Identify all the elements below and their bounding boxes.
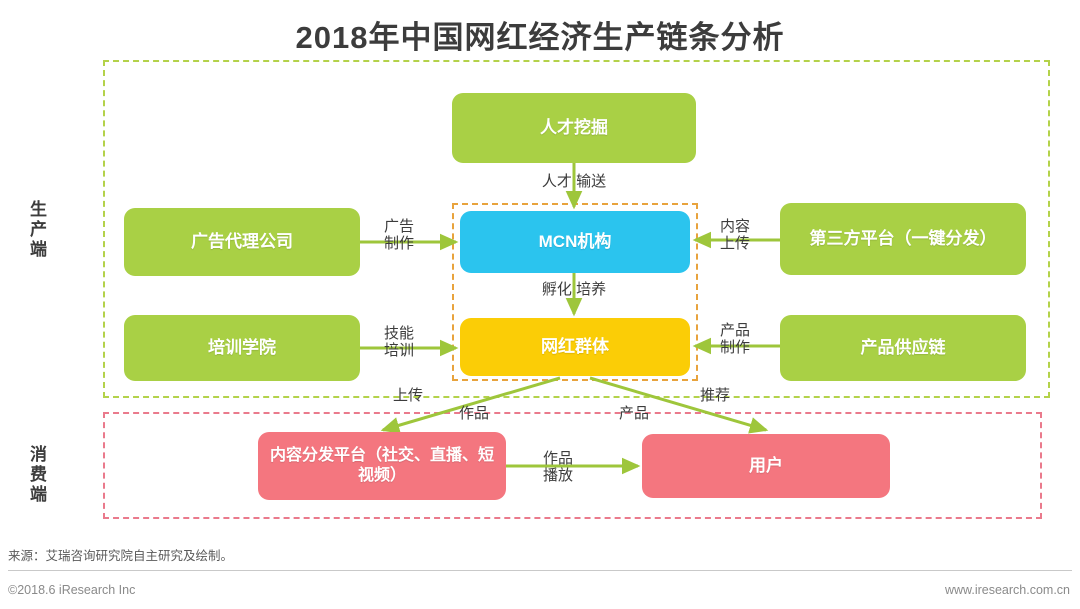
arrow-label-work-playback: 作品 播放 <box>528 450 588 485</box>
arrow-label-recommend: 推荐 <box>700 387 744 404</box>
box-content-distribution-platform[interactable]: 内容分发平台（社交、直播、短视频） <box>258 432 506 500</box>
arrow-label-incubate-cultivate: 孵化 培养 <box>512 281 636 298</box>
arrow-label-skill-training: 技能 培训 <box>372 325 426 360</box>
box-training-academy[interactable]: 培训学院 <box>124 315 360 381</box>
arrow-label-work: 作品 <box>452 405 496 422</box>
box-mcn[interactable]: MCN机构 <box>460 211 690 273</box>
side-label-consumption-end: 消费端 <box>24 430 49 520</box>
box-talent-discovery[interactable]: 人才挖掘 <box>452 93 696 163</box>
box-influencer-group[interactable]: 网红群体 <box>460 318 690 376</box>
box-product-supply-chain[interactable]: 产品供应链 <box>780 315 1026 381</box>
footer-divider <box>8 570 1072 571</box>
arrow-label-ad-production: 广告 制作 <box>372 218 426 253</box>
source-note: 来源：艾瑞咨询研究院自主研究及绘制。 <box>8 545 233 564</box>
box-ad-agency[interactable]: 广告代理公司 <box>124 208 360 276</box>
box-user[interactable]: 用户 <box>642 434 890 498</box>
copyright-text: ©2018.6 iResearch Inc <box>8 583 135 597</box>
arrow-label-upload: 上传 <box>386 387 430 404</box>
arrow-label-talent-transfer: 人才 输送 <box>512 173 636 190</box>
arrow-label-product-making: 产品 制作 <box>708 322 762 357</box>
arrow-label-product: 产品 <box>612 405 656 422</box>
page-title: 2018年中国网红经济生产链条分析 <box>0 12 1080 57</box>
diagram-canvas: 2018年中国网红经济生产链条分析 生产端 消费端 人才挖掘 广告代理公司 <box>0 0 1080 609</box>
arrow-label-content-upload: 内容 上传 <box>708 218 762 253</box>
box-third-party-platform[interactable]: 第三方平台（一键分发） <box>780 203 1026 275</box>
side-label-production-end: 生产端 <box>24 185 49 275</box>
website-link[interactable]: www.iresearch.com.cn <box>945 583 1070 597</box>
